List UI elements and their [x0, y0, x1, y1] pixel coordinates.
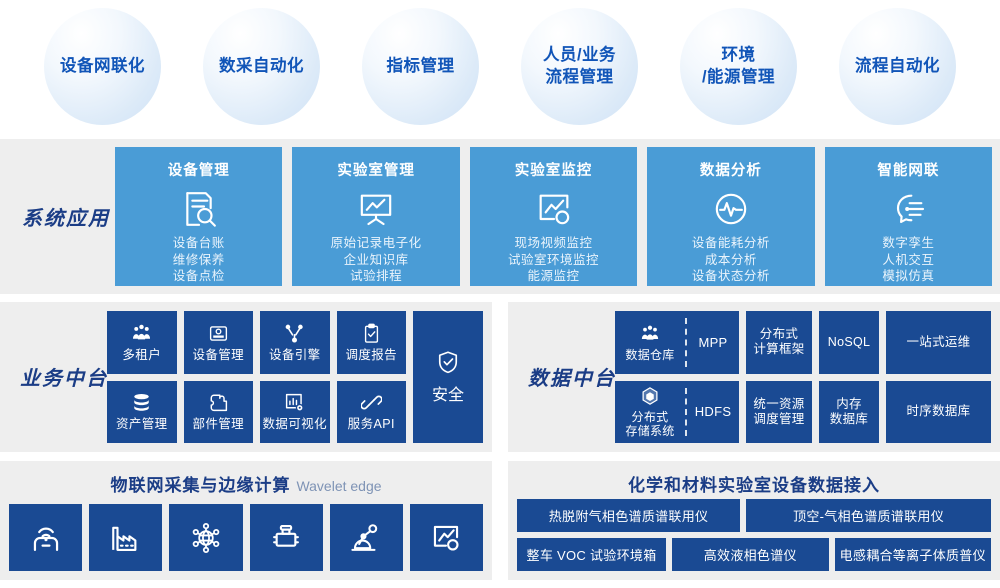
chart-view-icon — [284, 391, 305, 414]
sys-tile-smart-connected[interactable]: 智能网联 数字孪生 人机交互 模拟仿真 — [825, 147, 992, 286]
combo-side-hdfs[interactable]: HDFS — [687, 381, 739, 444]
data-platform-panel: 数据中台 数据仓库 — [508, 302, 1000, 452]
iot-section-header: 物联网采集与边缘计算Wavelet edge — [0, 461, 492, 496]
biz-tile-security[interactable]: 安全 — [413, 311, 483, 443]
lab-tile-icpms[interactable]: 电感耦合等离子体质普仪 — [835, 538, 991, 571]
biz-tile-device-engine[interactable]: 设备引擎 — [260, 311, 330, 374]
capability-bubble[interactable]: 指标管理 — [362, 8, 479, 125]
capability-bubble[interactable]: 流程自动化 — [839, 8, 956, 125]
label-line: 分布式 — [625, 410, 674, 424]
desc-line: 维修保养 — [173, 252, 225, 269]
tile-description: 原始记录电子化 企业知识库 试验排程 — [331, 235, 422, 285]
dashed-divider — [685, 318, 687, 367]
business-platform-label: 业务中台 — [20, 362, 108, 391]
desc-line: 原始记录电子化 — [331, 235, 422, 252]
label-line: 一站式运维 — [906, 335, 970, 350]
biz-tile-service-api[interactable]: 服务API — [337, 381, 407, 444]
data-row-2: 分布式 存储系统 HDFS 统一资源 调度管理 内存 — [615, 381, 991, 444]
desc-line: 现场视频监控 — [508, 235, 599, 252]
lab-section-header: 化学和材料实验室设备数据接入 — [508, 461, 1000, 496]
business-row-2: 资产管理 部件管理 — [107, 381, 406, 444]
bubble-line: 流程管理 — [543, 67, 616, 88]
tile-label: 设备管理 — [192, 348, 244, 363]
data-tile-nosql[interactable]: NoSQL — [819, 311, 879, 374]
lab-equipment-panel: 化学和材料实验室设备数据接入 热脱附气相色谱质谱联用仪 顶空-气相色谱质谱联用仪… — [508, 461, 1000, 580]
data-tile-in-memory-db[interactable]: 内存 数据库 — [819, 381, 879, 444]
tile-description: 现场视频监控 试验室环境监控 能源监控 — [508, 235, 599, 285]
desc-line: 人机交互 — [882, 252, 934, 269]
iot-icon-row — [9, 504, 483, 571]
cube-network-icon — [640, 385, 660, 407]
label-line: 分布式 — [753, 327, 804, 342]
label-line: NoSQL — [828, 335, 871, 350]
desc-line: 设备点检 — [173, 268, 225, 285]
data-tile-one-stop-ops[interactable]: 一站式运维 — [886, 311, 991, 374]
multi-tenant-icon — [131, 322, 152, 345]
label-line: 内存 — [830, 397, 868, 412]
desc-line: 设备状态分析 — [692, 268, 770, 285]
sys-tile-lab-management[interactable]: 实验室管理 原始记录电子化 企业知识库 试验排程 — [292, 147, 459, 286]
label-line: 调度管理 — [753, 412, 804, 427]
sensor-device-icon — [269, 521, 303, 555]
desc-line: 试验室环境监控 — [508, 252, 599, 269]
tile-label: 数据仓库 — [625, 348, 674, 362]
desc-line: 成本分析 — [692, 252, 770, 269]
tile-title: 实验室监控 — [515, 159, 593, 180]
combo-side-mpp[interactable]: MPP — [687, 311, 739, 374]
lab-tile-td-gcms[interactable]: 热脱附气相色谱质谱联用仪 — [517, 499, 740, 532]
biz-tile-data-visualization[interactable]: 数据可视化 — [260, 381, 330, 444]
system-application-panel: 系统应用 设备管理 设备台账 维修保养 设备点检 实验室管理 — [0, 139, 1000, 294]
puzzle-icon — [208, 391, 229, 414]
capability-bubble[interactable]: 数采自动化 — [203, 8, 320, 125]
tile-label: 多租户 — [122, 348, 161, 363]
data-platform-grid: 数据仓库 MPP 分布式 计算框架 NoSQL 一站式运维 — [615, 311, 991, 443]
iot-box-gateway[interactable] — [9, 504, 82, 571]
lab-tile-voc-chamber[interactable]: 整车 VOC 试验环境箱 — [517, 538, 666, 571]
biz-tile-component-management[interactable]: 部件管理 — [184, 381, 254, 444]
architecture-diagram: 设备网联化 数采自动化 指标管理 人员/业务 流程管理 环境 /能源管理 流程自… — [0, 0, 1000, 588]
sys-tile-lab-monitoring[interactable]: 实验室监控 现场视频监控 试验室环境监控 能源监控 — [470, 147, 637, 286]
tile-label: 数据可视化 — [262, 417, 327, 432]
tile-title: 数据分析 — [700, 159, 762, 180]
iot-box-network[interactable] — [169, 504, 242, 571]
desc-line: 企业知识库 — [331, 252, 422, 269]
tile-title: 智能网联 — [877, 159, 939, 180]
database-coin-icon — [131, 391, 152, 414]
capability-bubble-row: 设备网联化 数采自动化 指标管理 人员/业务 流程管理 环境 /能源管理 流程自… — [0, 0, 1000, 133]
tile-label: 安全 — [432, 381, 464, 405]
tile-label: 服务API — [348, 417, 395, 432]
desc-line: 试验排程 — [331, 268, 422, 285]
bubble-line: 指标管理 — [387, 56, 455, 77]
presentation-chart-icon — [356, 189, 396, 229]
tile-description: 设备能耗分析 成本分析 设备状态分析 — [692, 235, 770, 285]
bubble-line: 环境 — [702, 45, 775, 66]
biz-tile-dispatch-report[interactable]: 调度报告 — [337, 311, 407, 374]
label-line: 数据库 — [830, 412, 868, 427]
monitor-chart-icon — [534, 189, 574, 229]
desc-line: 模拟仿真 — [882, 268, 934, 285]
iot-box-sensor[interactable] — [250, 504, 323, 571]
desc-line: 数字孪生 — [882, 235, 934, 252]
iot-box-factory[interactable] — [89, 504, 162, 571]
data-tile-warehouse-mpp[interactable]: 数据仓库 MPP — [615, 311, 739, 374]
lab-section-title: 化学和材料实验室设备数据接入 — [628, 476, 880, 495]
biz-tile-asset-management[interactable]: 资产管理 — [107, 381, 177, 444]
sys-tile-device-management[interactable]: 设备管理 设备台账 维修保养 设备点检 — [115, 147, 282, 286]
desc-line: 设备能耗分析 — [692, 235, 770, 252]
bubble-line: /能源管理 — [702, 67, 775, 88]
iot-section-title: 物联网采集与边缘计算 — [110, 476, 290, 495]
tile-title: 实验室管理 — [337, 159, 415, 180]
tile-description: 设备台账 维修保养 设备点检 — [173, 235, 225, 285]
dashed-divider — [685, 388, 687, 437]
label-line: 存储系统 — [625, 424, 674, 438]
iot-box-robot-arm[interactable] — [330, 504, 403, 571]
system-application-tiles: 设备管理 设备台账 维修保养 设备点检 实验室管理 — [115, 147, 992, 286]
label-line: 统一资源 — [753, 397, 804, 412]
lab-tile-hplc[interactable]: 高效液相色谱仪 — [672, 538, 828, 571]
biz-tile-multi-tenant[interactable]: 多租户 — [107, 311, 177, 374]
data-tile-timeseries-db[interactable]: 时序数据库 — [886, 381, 991, 444]
tile-title: 设备管理 — [168, 159, 230, 180]
data-tile-resource-scheduling[interactable]: 统一资源 调度管理 — [746, 381, 812, 444]
link-chain-icon — [361, 391, 382, 414]
business-row-1: 多租户 设备管理 — [107, 311, 406, 374]
tile-label: 资产管理 — [116, 417, 168, 432]
desc-line: 设备台账 — [173, 235, 225, 252]
label-line: 时序数据库 — [906, 404, 970, 419]
multi-tenant-icon — [640, 323, 660, 345]
smart-head-icon — [888, 189, 928, 229]
bubble-line: 人员/业务 — [543, 45, 616, 66]
combo-main-warehouse[interactable]: 数据仓库 — [615, 311, 685, 374]
data-row-1: 数据仓库 MPP 分布式 计算框架 NoSQL 一站式运维 — [615, 311, 991, 374]
iot-edge-panel: 物联网采集与边缘计算Wavelet edge — [0, 461, 492, 580]
business-tile-columns: 多租户 设备管理 — [107, 311, 406, 443]
lab-tile-hs-gcms[interactable]: 顶空-气相色谱质谱联用仪 — [746, 499, 991, 532]
robot-arm-icon — [349, 521, 383, 555]
data-platform-label: 数据中台 — [528, 362, 616, 391]
lab-row-1: 热脱附气相色谱质谱联用仪 顶空-气相色谱质谱联用仪 — [517, 499, 991, 532]
label-line: 计算框架 — [753, 342, 804, 357]
monitor-chart-icon — [429, 521, 463, 555]
tile-label: 调度报告 — [345, 348, 397, 363]
factory-icon — [109, 521, 143, 555]
data-tile-storage-hdfs[interactable]: 分布式 存储系统 HDFS — [615, 381, 739, 444]
data-tile-distributed-compute[interactable]: 分布式 计算框架 — [746, 311, 812, 374]
device-box-icon — [208, 322, 229, 345]
combo-main-storage[interactable]: 分布式 存储系统 — [615, 381, 685, 444]
globe-network-icon — [189, 521, 223, 555]
node-graph-icon — [284, 322, 305, 345]
capability-bubble[interactable]: 设备网联化 — [44, 8, 161, 125]
sys-tile-data-analysis[interactable]: 数据分析 设备能耗分析 成本分析 设备状态分析 — [647, 147, 814, 286]
bubble-line: 流程自动化 — [855, 56, 940, 77]
tile-label: 分布式 存储系统 — [625, 410, 674, 439]
desc-line: 能源监控 — [508, 268, 599, 285]
bubble-line: 数采自动化 — [219, 56, 304, 77]
tile-description: 数字孪生 人机交互 模拟仿真 — [882, 235, 934, 285]
pulse-circle-icon — [711, 189, 751, 229]
iot-section-subtitle: Wavelet edge — [296, 478, 381, 494]
lab-tile-rows: 热脱附气相色谱质谱联用仪 顶空-气相色谱质谱联用仪 整车 VOC 试验环境箱 高… — [517, 499, 991, 571]
capability-bubble[interactable]: 环境 /能源管理 — [680, 8, 797, 125]
clipboard-check-icon — [361, 322, 382, 345]
business-platform-panel: 业务中台 多租户 — [0, 302, 492, 452]
tile-label: 部件管理 — [192, 417, 244, 432]
business-platform-grid: 多租户 设备管理 — [107, 311, 483, 443]
lab-row-2: 整车 VOC 试验环境箱 高效液相色谱仪 电感耦合等离子体质普仪 — [517, 538, 991, 571]
tile-label: 设备引擎 — [269, 348, 321, 363]
capability-bubble[interactable]: 人员/业务 流程管理 — [521, 8, 638, 125]
bubble-line: 设备网联化 — [60, 56, 145, 77]
document-search-icon — [179, 189, 219, 229]
biz-tile-device-management[interactable]: 设备管理 — [184, 311, 254, 374]
label-line: 数据仓库 — [625, 348, 674, 362]
system-application-label: 系统应用 — [22, 202, 110, 231]
iot-box-monitor[interactable] — [410, 504, 483, 571]
shield-check-icon — [436, 350, 460, 376]
wifi-gateway-icon — [29, 521, 63, 555]
